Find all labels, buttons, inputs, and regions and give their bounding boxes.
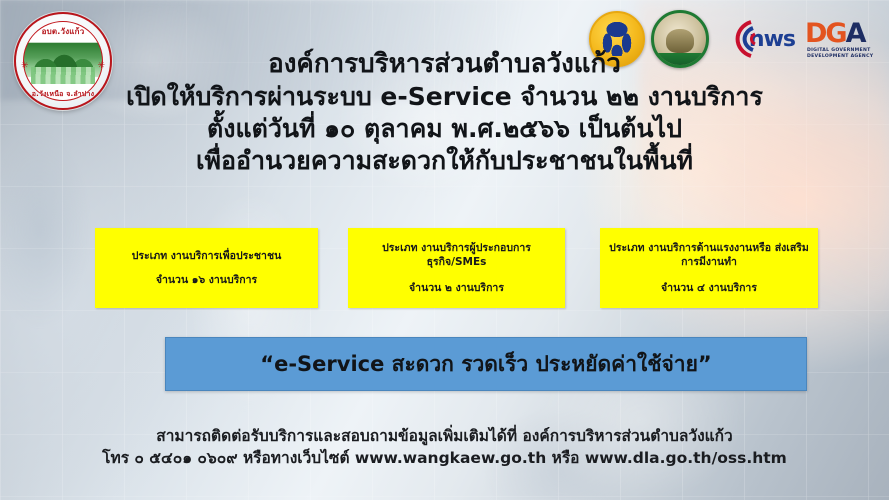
service-box-labour-count: จำนวน ๔ งานบริการ [661,282,757,296]
service-box-citizen-type: ประเภท งานบริการเพื่อประชาชน [126,249,288,263]
service-box-business-type: ประเภท งานบริการผู้ประกอบการ ธุรกิจ/SMEs [348,241,565,269]
footer-contact: สามารถติดต่อรับบริการและสอบถามข้อมูลเพิ่… [0,425,889,470]
headline-line-1: องค์การบริหารส่วนตำบลวังแก้ว [0,48,889,81]
service-box-labour-type: ประเภท งานบริการด้านแรงงานหรือ ส่งเสริมก… [600,241,818,269]
service-category-boxes: ประเภท งานบริการเพื่อประชาชน จำนวน ๑๖ งา… [0,228,889,310]
dga-wordmark: DGA [805,20,865,47]
service-box-business: ประเภท งานบริการผู้ประกอบการ ธุรกิจ/SMEs… [348,228,565,308]
footer-line-2: โทร ๐ ๕๔๐๑ ๐๖๐๙ หรือทางเว็บไซต์ www.wang… [0,447,889,469]
headline-block: องค์การบริหารส่วนตำบลวังแก้ว เปิดให้บริก… [0,48,889,177]
service-box-citizen: ประเภท งานบริการเพื่อประชาชน จำนวน ๑๖ งา… [95,228,318,308]
footer-line-1: สามารถติดต่อรับบริการและสอบถามข้อมูลเพิ่… [0,425,889,447]
seal-top-text: อบต.วังแก้ว [16,25,110,38]
headline-line-3: ตั้งแต่วันที่ ๑๐ ตุลาคม พ.ศ.๒๕๖๖ เป็นต้น… [0,113,889,145]
dga-letter-a: A [846,18,865,49]
service-box-citizen-count: จำนวน ๑๖ งานบริการ [156,274,257,288]
dga-letter-d: D [805,18,825,49]
poster-canvas: อบต.วังแก้ว อ.วังเหนือ จ.ลำปาง ✳ ✳ nws D… [0,0,889,500]
slogan-text: “e-Service สะดวก รวดเร็ว ประหยัดค่าใช้จ่… [260,348,711,381]
slogan-banner: “e-Service สะดวก รวดเร็ว ประหยัดค่าใช้จ่… [165,337,807,391]
dga-letter-g: G [825,18,845,49]
headline-line-2: เปิดให้บริการผ่านระบบ e-Service จำนวน ๒๒… [0,81,889,113]
headline-line-4: เพื่ออำนวยความสะดวกให้กับประชาชนในพื้นที… [0,145,889,177]
service-box-business-count: จำนวน ๒ งานบริการ [409,282,504,296]
service-box-labour: ประเภท งานบริการด้านแรงงานหรือ ส่งเสริมก… [600,228,818,308]
